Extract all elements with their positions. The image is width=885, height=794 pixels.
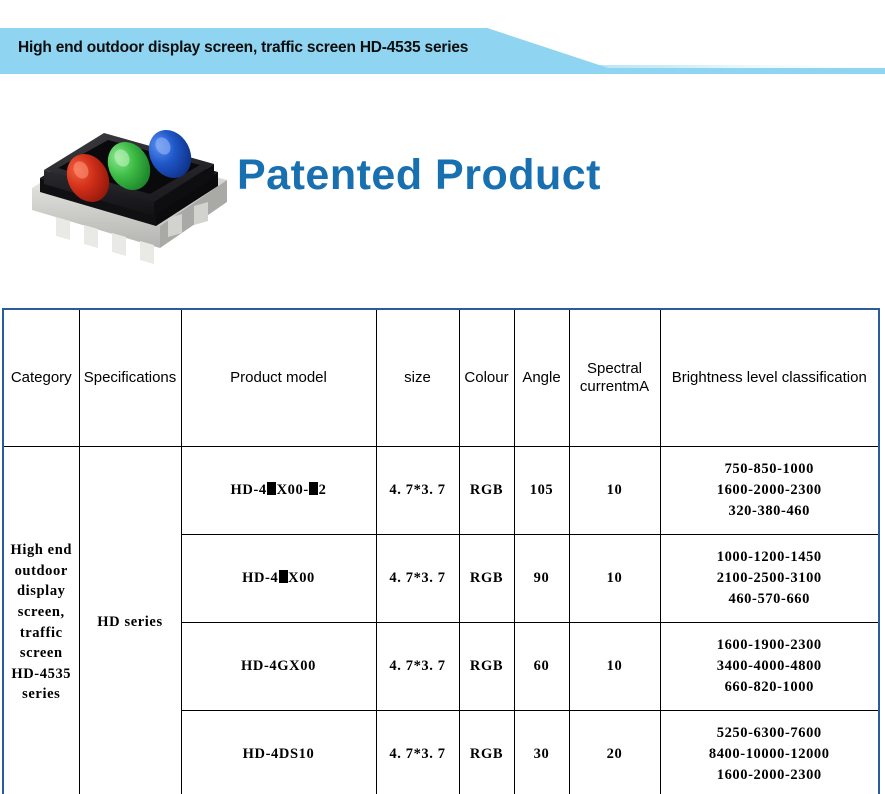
cell-brightness: 1000-1200-1450 2100-2500-3100 460-570-66… (660, 535, 879, 623)
led-pixel-module-photo (22, 100, 237, 275)
cell-size: 4. 7*3. 7 (376, 535, 459, 623)
cell-product-model: HD-4X00-2 (181, 447, 376, 535)
header-specifications: Specifications (79, 309, 181, 447)
hero-section: Patented Product (0, 95, 885, 285)
header-size: size (376, 309, 459, 447)
cell-colour: RGB (459, 535, 514, 623)
cell-product-model: HD-4X00 (181, 535, 376, 623)
missing-glyph-icon (279, 570, 288, 582)
missing-glyph-icon (309, 482, 318, 494)
cell-angle: 30 (514, 711, 569, 794)
header-category: Category (3, 309, 79, 447)
header-spectral-current: Spectral currentmA (569, 309, 660, 447)
model-prefix: HD-4 (242, 570, 278, 586)
specifications-table: Category Specifications Product model si… (2, 308, 880, 794)
cell-angle: 105 (514, 447, 569, 535)
cell-product-model: HD-4GX00 (181, 623, 376, 711)
specifications-table-wrap: Category Specifications Product model si… (2, 308, 880, 794)
cell-category: High end outdoor display screen, traffic… (3, 447, 79, 794)
model-prefix: HD-4 (231, 482, 267, 498)
header-angle: Angle (514, 309, 569, 447)
table-row: High end outdoor display screen, traffic… (3, 447, 879, 535)
banner-title: High end outdoor display screen, traffic… (18, 39, 468, 57)
cell-brightness: 1600-1900-2300 3400-4000-4800 660-820-10… (660, 623, 879, 711)
cell-size: 4. 7*3. 7 (376, 711, 459, 794)
page-banner: High end outdoor display screen, traffic… (0, 28, 885, 74)
cell-spectral-current: 20 (569, 711, 660, 794)
missing-glyph-icon (267, 482, 276, 494)
table-header-row: Category Specifications Product model si… (3, 309, 879, 447)
model-mid: X00 (288, 570, 315, 586)
page-title: Patented Product (237, 151, 601, 200)
cell-colour: RGB (459, 623, 514, 711)
header-product-model: Product model (181, 309, 376, 447)
model-mid: X00- (277, 482, 309, 498)
cell-size: 4. 7*3. 7 (376, 447, 459, 535)
cell-spectral-current: 10 (569, 535, 660, 623)
cell-angle: 90 (514, 535, 569, 623)
cell-brightness: 750-850-1000 1600-2000-2300 320-380-460 (660, 447, 879, 535)
header-brightness-level: Brightness level classification (660, 309, 879, 447)
header-colour: Colour (459, 309, 514, 447)
cell-angle: 60 (514, 623, 569, 711)
cell-product-model: HD-4DS10 (181, 711, 376, 794)
cell-spectral-current: 10 (569, 447, 660, 535)
cell-colour: RGB (459, 711, 514, 794)
cell-colour: RGB (459, 447, 514, 535)
model-suffix: 2 (319, 482, 327, 498)
cell-specifications: HD series (79, 447, 181, 794)
cell-brightness: 5250-6300-7600 8400-10000-12000 1600-200… (660, 711, 879, 794)
cell-spectral-current: 10 (569, 623, 660, 711)
cell-size: 4. 7*3. 7 (376, 623, 459, 711)
